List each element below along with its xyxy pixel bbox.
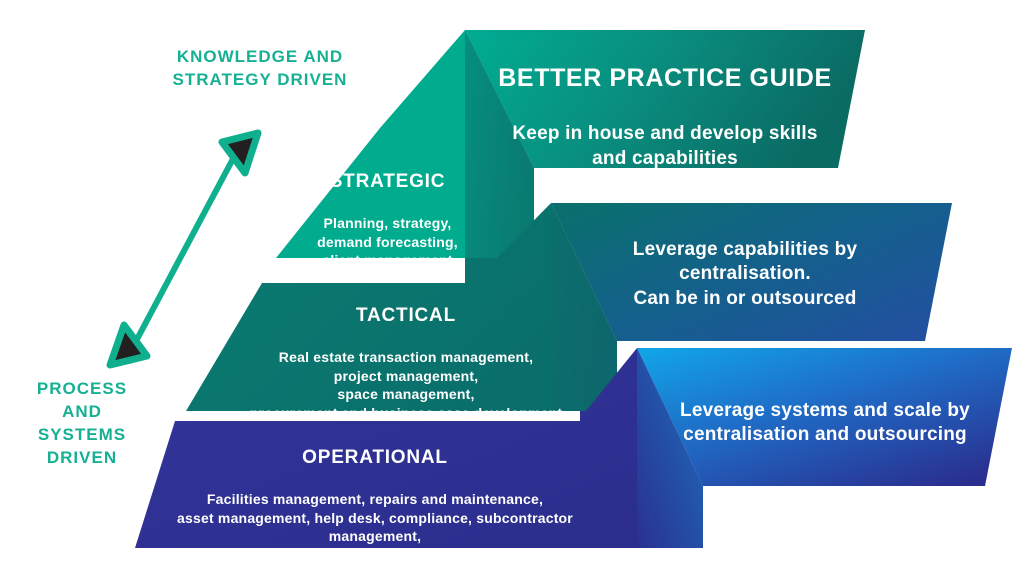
label-process-systems-driven: PROCESS AND SYSTEMS DRIVEN	[12, 378, 152, 470]
banner-strategic-shape	[465, 30, 865, 168]
banner-operational	[637, 348, 1012, 486]
pyramid-diagram-canvas: BETTER PRACTICE GUIDE Keep in house and …	[0, 0, 1024, 576]
pyramid-diagram-svg	[0, 0, 1024, 576]
label-knowledge-strategy-driven: KNOWLEDGE AND STRATEGY DRIVEN	[160, 46, 360, 92]
banner-strategic	[465, 30, 865, 168]
banner-tactical-shape	[551, 203, 952, 341]
banner-tactical	[551, 203, 952, 341]
arrow-shaft	[135, 155, 235, 343]
banner-operational-shape	[637, 348, 1012, 486]
